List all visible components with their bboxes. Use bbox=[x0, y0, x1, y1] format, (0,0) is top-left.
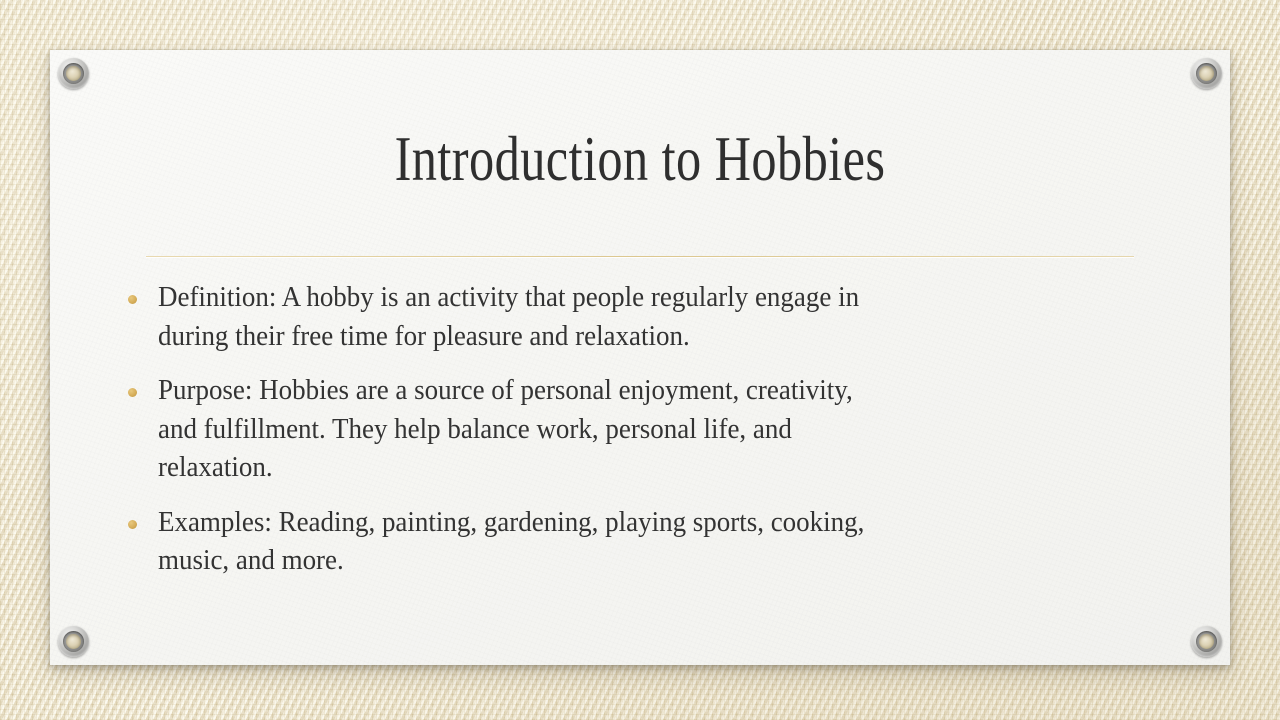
bullet-item-definition: Definition: A hobby is an activity that … bbox=[128, 278, 928, 355]
presentation-slide: Introduction to Hobbies Definition: A ho… bbox=[50, 50, 1230, 665]
bullet-text-purpose: Purpose: Hobbies are a source of persona… bbox=[158, 371, 874, 487]
grommet-icon-top-left bbox=[58, 58, 89, 89]
slide-title: Introduction to Hobbies bbox=[168, 128, 1112, 191]
bullet-item-examples: Examples: Reading, painting, gardening, … bbox=[128, 503, 928, 580]
grommet-icon-bottom-right bbox=[1191, 626, 1222, 657]
round-bullet-icon bbox=[128, 295, 137, 304]
bullet-text-definition: Definition: A hobby is an activity that … bbox=[158, 278, 874, 355]
round-bullet-icon bbox=[128, 520, 137, 529]
grommet-icon-bottom-left bbox=[58, 626, 89, 657]
title-divider bbox=[146, 256, 1134, 257]
grommet-icon-top-right bbox=[1191, 58, 1222, 89]
bullet-text-examples: Examples: Reading, painting, gardening, … bbox=[158, 503, 874, 580]
bullet-list: Definition: A hobby is an activity that … bbox=[128, 278, 928, 596]
round-bullet-icon bbox=[128, 388, 137, 397]
bullet-item-purpose: Purpose: Hobbies are a source of persona… bbox=[128, 371, 928, 487]
